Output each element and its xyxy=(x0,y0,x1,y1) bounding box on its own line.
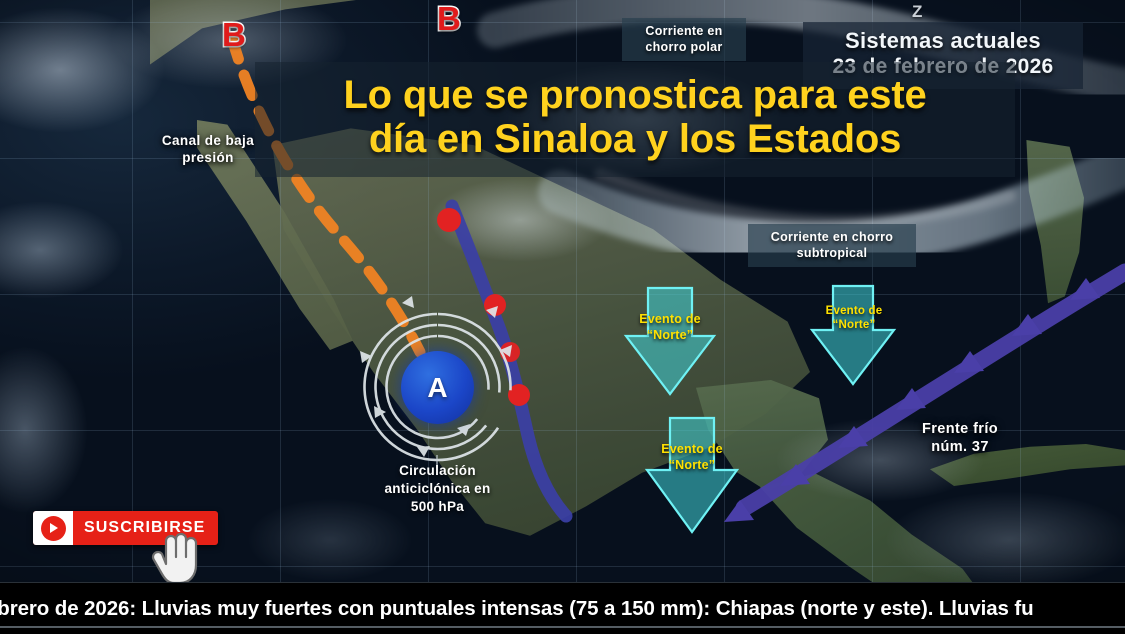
norte-event-1-line1: Evento de xyxy=(639,312,701,326)
label-anticyclone-line1: Circulación xyxy=(399,463,476,478)
subscribe-button-label: SUSCRIBIRSE xyxy=(73,519,218,537)
norte-event-3-label: Evento de “Norte” xyxy=(647,442,737,473)
ticker-text: ebrero de 2026: Lluvias muy fuertes con … xyxy=(0,597,1034,621)
youtube-play-icon xyxy=(41,516,66,541)
label-subtropical-jet-line2: subtropical xyxy=(797,246,868,260)
norte-event-2-line2: “Norte” xyxy=(833,319,876,331)
youtube-icon xyxy=(33,511,73,545)
norte-event-1: Evento de “Norte” xyxy=(620,288,720,398)
label-subtropical-jet: Corriente en chorro subtropical xyxy=(748,224,916,267)
label-cold-front-line1: Frente frío xyxy=(922,421,998,437)
norte-event-3-line1: Evento de xyxy=(661,442,723,456)
date-card-title: Sistemas actuales xyxy=(813,28,1073,54)
anticyclone-system: A Circulación anticiclónica en 500 hPa xyxy=(360,310,515,465)
headline-line-1: Lo que se pronostica para este xyxy=(269,74,1001,118)
headline-banner: Lo que se pronostica para este día en Si… xyxy=(255,62,1015,177)
subscribe-button[interactable]: SUSCRIBIRSE xyxy=(33,511,218,545)
label-trough-line2: presión xyxy=(182,150,234,165)
low-pressure-marker-b-1: B xyxy=(222,18,246,51)
label-cold-front-line2: núm. 37 xyxy=(931,439,989,455)
anticyclone-core-symbol: A xyxy=(401,351,474,424)
norte-event-1-label: Evento de “Norte” xyxy=(620,312,720,343)
low-pressure-marker-b-2: B xyxy=(437,2,461,35)
news-ticker-bar: ebrero de 2026: Lluvias muy fuertes con … xyxy=(0,582,1125,634)
ticker-underline xyxy=(0,626,1125,628)
norte-event-2-label: Evento de “Norte” xyxy=(812,304,896,333)
label-polar-jet-line2: chorro polar xyxy=(645,40,722,54)
anticyclone-letter-a: A xyxy=(427,374,447,402)
weather-map-broadcast: B B Z Canal de baja presión Corriente en… xyxy=(0,0,1125,634)
norte-event-2: Evento de “Norte” xyxy=(812,286,896,386)
norte-event-3-line2: “Norte” xyxy=(669,458,716,472)
label-anticyclone-line2: anticiclónica en xyxy=(384,481,490,496)
label-anticyclone-caption: Circulación anticiclónica en 500 hPa xyxy=(330,462,545,517)
label-polar-jet: Corriente en chorro polar xyxy=(622,18,746,61)
norte-event-1-line2: “Norte” xyxy=(647,328,694,342)
label-subtropical-jet-line1: Corriente en chorro xyxy=(771,230,893,244)
label-anticyclone-line3: 500 hPa xyxy=(411,499,464,514)
label-cold-front-37: Frente frío núm. 37 xyxy=(884,420,1036,456)
label-trough-line1: Canal de baja xyxy=(162,133,254,148)
label-polar-jet-line1: Corriente en xyxy=(645,24,722,38)
headline-line-2: día en Sinaloa y los Estados xyxy=(269,118,1001,162)
norte-event-2-line1: Evento de xyxy=(826,305,883,317)
norte-event-3: Evento de “Norte” xyxy=(647,418,737,534)
upper-low-marker-z: Z xyxy=(912,2,922,22)
